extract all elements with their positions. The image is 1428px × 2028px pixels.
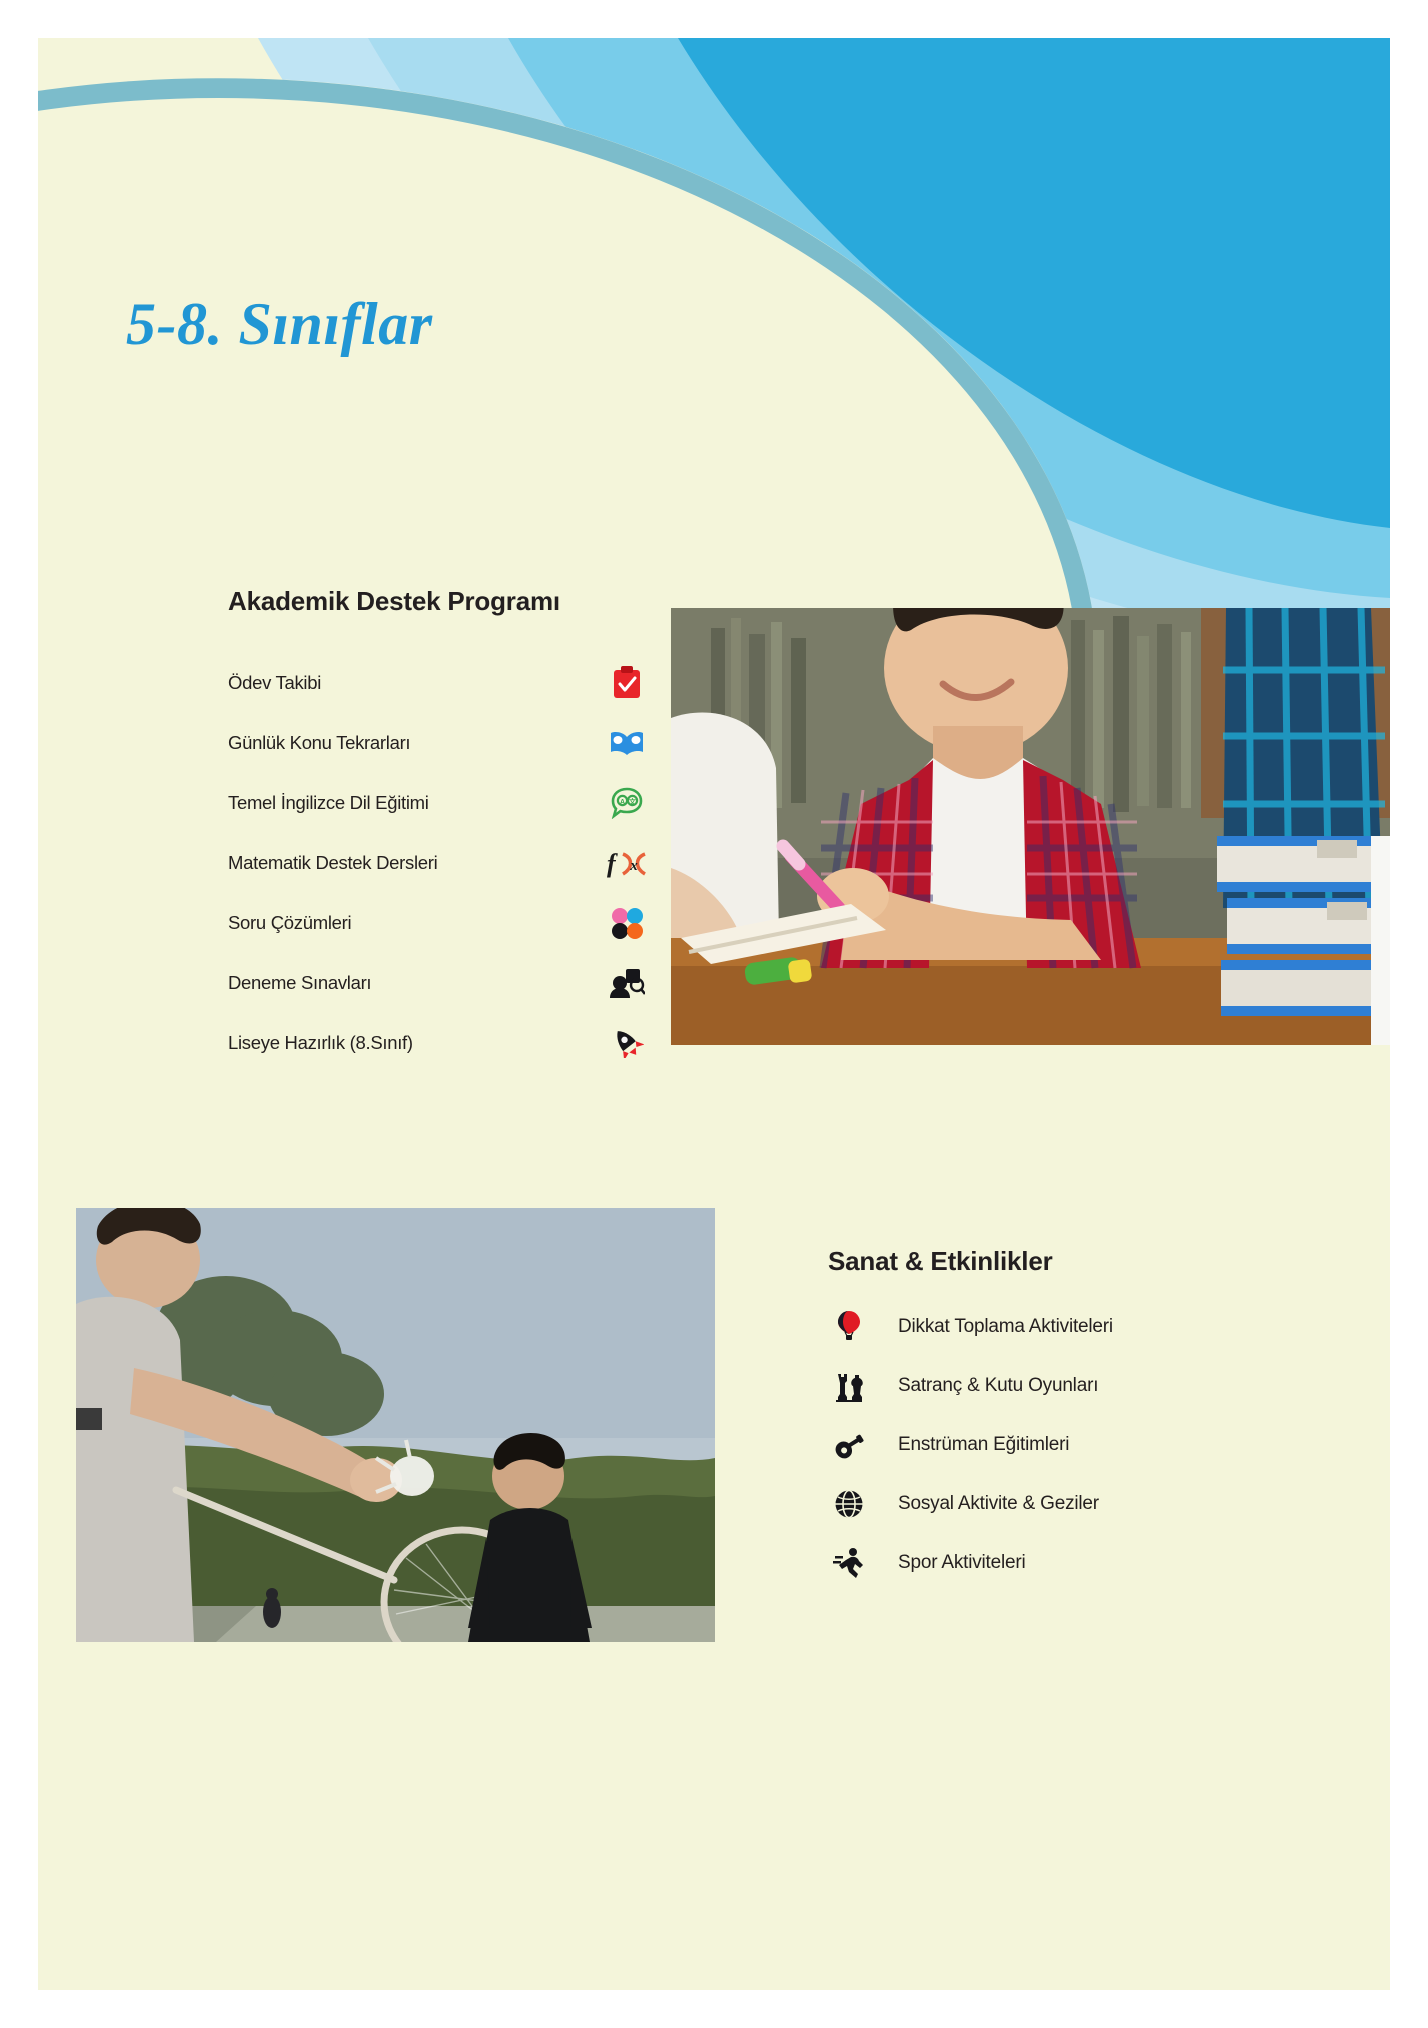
list-item[interactable]: Liseye Hazırlık (8.Sınıf) [228,1021,648,1065]
academic-heading: Akademik Destek Programı [228,586,648,617]
list-item[interactable]: Soru Çözümleri [228,901,648,945]
arts-item-label: Enstrüman Eğitimleri [898,1434,1069,1456]
list-item[interactable]: Günlük Konu Tekrarları [228,721,648,765]
arts-item-label: Spor Aktiviteleri [898,1552,1026,1574]
arts-section: Sanat & Etkinlikler Dikkat Toplama Aktiv… [828,1246,1288,1602]
list-item[interactable]: Temel İngilizce Dil Eğitimi A 文 [228,781,648,825]
academic-item-label: Ödev Takibi [228,672,321,694]
chess-pieces-icon [828,1366,870,1406]
rocket-icon [606,1023,648,1063]
guitar-icon [828,1425,870,1465]
hot-air-balloon-icon [828,1307,870,1347]
svg-text:A: A [620,799,625,806]
arts-item-label: Dikkat Toplama Aktiviteleri [898,1316,1113,1338]
academic-item-label: Deneme Sınavları [228,972,371,994]
function-fx-icon: f x [606,843,648,883]
globe-icon [828,1484,870,1524]
arts-heading: Sanat & Etkinlikler [828,1246,1288,1277]
list-item[interactable]: Ödev Takibi [228,661,648,705]
academic-item-label: Soru Çözümleri [228,912,351,934]
list-item[interactable]: Spor Aktiviteleri [828,1543,1288,1583]
photo-sports [76,1208,715,1642]
open-book-icon [606,723,648,763]
list-item[interactable]: Satranç & Kutu Oyunları [828,1366,1288,1406]
academic-item-label: Liseye Hazırlık (8.Sınıf) [228,1032,413,1054]
arts-feature-list: Dikkat Toplama Aktiviteleri Satranç & Ku… [828,1307,1288,1583]
photo-study [671,608,1390,1045]
svg-text:x: x [629,858,638,874]
list-item[interactable]: Enstrüman Eğitimleri [828,1425,1288,1465]
arts-item-label: Sosyal Aktivite & Geziler [898,1493,1099,1515]
academic-section: Akademik Destek Programı Ödev Takibi Gün… [228,586,648,1081]
speech-bubble-abc-icon: A 文 [606,783,648,823]
page-title: 5-8. Sınıflar [126,290,433,359]
list-item[interactable]: Matematik Destek Dersleri f x [228,841,648,885]
running-person-icon [828,1543,870,1583]
brochure-page: 5-8. Sınıflar [38,38,1390,1990]
svg-text:f: f [607,849,618,878]
list-item[interactable]: Deneme Sınavları [228,961,648,1005]
academic-item-label: Matematik Destek Dersleri [228,852,437,874]
academic-item-label: Günlük Konu Tekrarları [228,732,410,754]
student-exam-icon [606,963,648,1003]
arts-item-label: Satranç & Kutu Oyunları [898,1375,1098,1397]
svg-text:文: 文 [629,797,637,806]
academic-feature-list: Ödev Takibi Günlük Konu Tekrarları [228,661,648,1065]
four-dots-icon [606,903,648,943]
academic-item-label: Temel İngilizce Dil Eğitimi [228,792,429,814]
clipboard-check-icon [606,663,648,703]
list-item[interactable]: Dikkat Toplama Aktiviteleri [828,1307,1288,1347]
list-item[interactable]: Sosyal Aktivite & Geziler [828,1484,1288,1524]
